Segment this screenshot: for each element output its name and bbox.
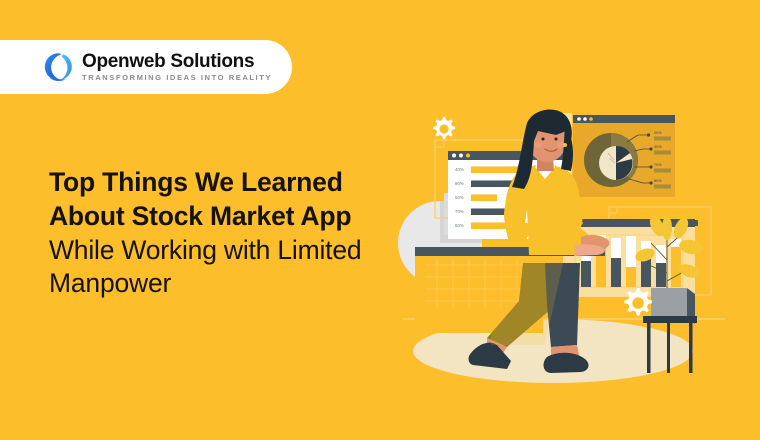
logo-company-name: Openweb Solutions: [82, 52, 272, 71]
svg-text:90%: 90%: [455, 181, 464, 186]
svg-text:70%: 70%: [455, 209, 464, 214]
gear-icon-bottom-right: [624, 288, 651, 315]
svg-text:20%: 20%: [654, 131, 662, 135]
svg-text:80%: 80%: [654, 179, 662, 183]
gear-icon-top-left: [433, 117, 455, 139]
headline-bold-text: Top Things We Learned About Stock Market…: [49, 167, 351, 231]
svg-text:50%: 50%: [455, 195, 464, 200]
logo-tagline: TRANSFORMING IDEAS INTO REALITY: [82, 74, 272, 82]
browser-window-donut-chart: 20% 40% 70% 80%: [573, 115, 675, 197]
logo-card: Openweb Solutions TRANSFORMING IDEAS INT…: [0, 40, 292, 94]
svg-text:40%: 40%: [654, 145, 662, 149]
illustration-svg: 40% 90% 50% 70% 60%: [395, 95, 760, 395]
marketing-banner: Openweb Solutions TRANSFORMING IDEAS INT…: [0, 0, 760, 440]
page-title: Top Things We Learned About Stock Market…: [49, 166, 379, 302]
svg-text:60%: 60%: [455, 223, 464, 228]
headline-light-text: While Working with Limited Manpower: [49, 235, 361, 299]
svg-text:70%: 70%: [654, 163, 662, 167]
openweb-swirl-logo-icon: [42, 51, 74, 83]
illustration: 40% 90% 50% 70% 60%: [395, 95, 760, 395]
svg-text:40%: 40%: [455, 167, 464, 172]
